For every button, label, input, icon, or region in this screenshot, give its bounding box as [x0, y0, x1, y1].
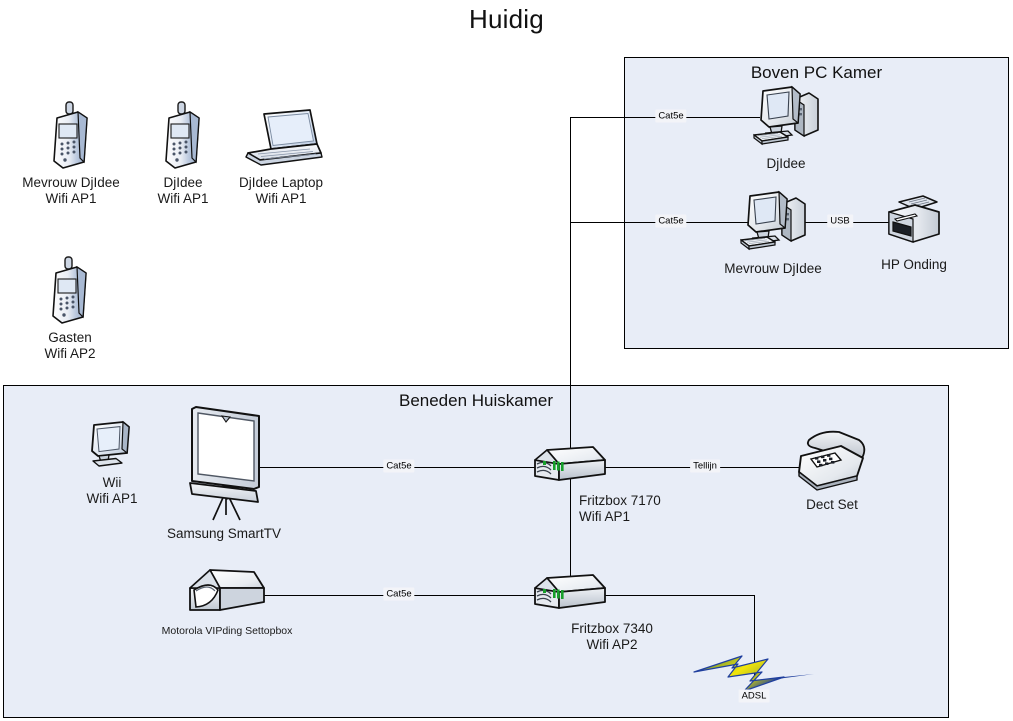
- node-fritzbox-7170[interactable]: Fritzbox 7170 Wifi AP1: [531, 444, 699, 525]
- mobile-phone-icon: [30, 255, 110, 327]
- room-title-boven: Boven PC Kamer: [625, 63, 1008, 83]
- node-label: DjIdee: [728, 156, 844, 172]
- node-djidee-phone[interactable]: DjIdee Wifi AP1: [143, 100, 223, 207]
- link-label-cat5e-pc-mevrouw: Cat5e: [655, 215, 686, 228]
- node-label: Gasten Wifi AP2: [30, 330, 110, 362]
- node-printer-hp-onding[interactable]: HP Onding: [868, 192, 960, 273]
- printer-icon: [868, 192, 960, 254]
- page-title: Huidig: [0, 4, 1013, 35]
- node-djidee-laptop[interactable]: DjIdee Laptop Wifi AP1: [232, 108, 330, 207]
- link-label-adsl: ADSL: [739, 690, 770, 703]
- lightning-icon: [692, 650, 816, 694]
- node-label: Wii Wifi AP1: [72, 475, 152, 507]
- node-motorola-settopbox[interactable]: Motorola VIPding Settopbox: [152, 566, 302, 638]
- node-pc-djidee[interactable]: DjIdee: [728, 83, 844, 172]
- node-wii[interactable]: Wii Wifi AP1: [72, 420, 152, 507]
- link-label-cat5e-smarttv: Cat5e: [383, 460, 414, 473]
- node-mevrouw-djidee-phone[interactable]: Mevrouw DjIdee Wifi AP1: [17, 100, 125, 207]
- node-label: Motorola VIPding Settopbox: [152, 625, 302, 638]
- node-adsl[interactable]: ADSL: [692, 650, 816, 694]
- node-fritzbox-7340[interactable]: Fritzbox 7340 Wifi AP2: [531, 572, 699, 653]
- node-label: Dect Set: [782, 497, 882, 513]
- link-label-usb-printer: USB: [827, 215, 853, 228]
- node-label: Fritzbox 7170 Wifi AP1: [579, 493, 699, 525]
- node-label: HP Onding: [868, 257, 960, 273]
- settopbox-icon: [152, 566, 302, 622]
- node-label: DjIdee Laptop Wifi AP1: [232, 175, 330, 207]
- mobile-phone-icon: [143, 100, 223, 172]
- desktop-pc-icon: [715, 188, 831, 258]
- link-label-cat5e-settopbox: Cat5e: [383, 588, 414, 601]
- link-riser-vertical: [570, 117, 571, 223]
- node-label: Samsung SmartTV: [158, 526, 290, 542]
- link-label-cat5e-pc-djidee: Cat5e: [655, 110, 686, 123]
- desktop-pc-icon: [728, 83, 844, 153]
- node-label: DjIdee Wifi AP1: [143, 175, 223, 207]
- mobile-phone-icon: [17, 100, 125, 172]
- screen-icon: [158, 403, 290, 523]
- node-dect-set[interactable]: Dect Set: [782, 428, 882, 513]
- desk-phone-icon: [782, 428, 882, 494]
- monitor-icon: [72, 420, 152, 472]
- network-diagram-canvas: Huidig Boven PC Kamer Beneden Huiskamer …: [0, 0, 1013, 721]
- router-icon: [531, 444, 699, 490]
- node-pc-mevrouw-djidee[interactable]: Mevrouw DjIdee: [715, 188, 831, 277]
- node-gasten-phone[interactable]: Gasten Wifi AP2: [30, 255, 110, 362]
- router-icon: [531, 572, 699, 618]
- room-title-beneden: Beneden Huiskamer: [4, 391, 948, 411]
- node-label: Mevrouw DjIdee Wifi AP1: [17, 175, 125, 207]
- laptop-icon: [232, 108, 330, 172]
- node-label: Mevrouw DjIdee: [715, 261, 831, 277]
- node-samsung-smarttv[interactable]: Samsung SmartTV: [158, 403, 290, 542]
- node-label: Fritzbox 7340 Wifi AP2: [525, 621, 699, 653]
